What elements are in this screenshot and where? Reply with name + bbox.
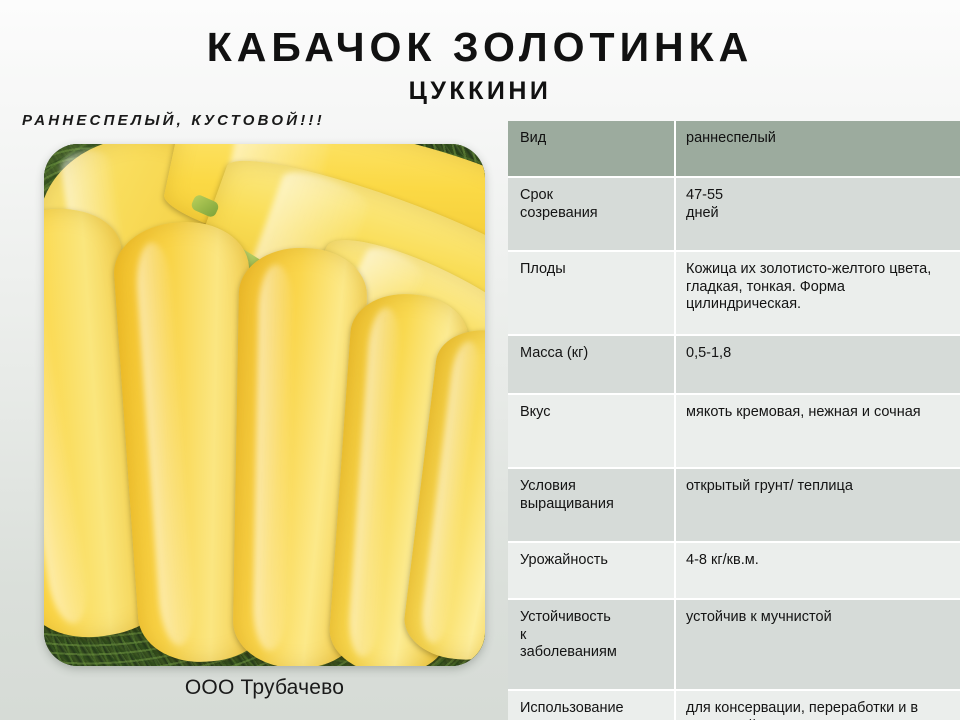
row-key-label: Использование [520,700,624,716]
row-value-label: устойчив к мучнистой [686,609,832,625]
table-cell-key: Вкус [508,394,675,468]
table-cell-key: Использование [508,690,675,720]
row-value-label: 0,5-1,8 [686,345,731,361]
table-cell-value: устойчив к мучнистой [675,599,960,690]
row-value-label: Кожица их золотисто-желтого цвета, гладк… [686,261,931,312]
table-row: Устойчивость к заболеваниям устойчив к м… [508,599,960,690]
table-cell-key: Устойчивость к заболеваниям [508,599,675,690]
row-value-label: открытый грунт/ теплица [686,478,853,494]
row-key-label: Срок созревания [520,187,598,221]
table-cell-value: мякоть кремовая, нежная и сочная [675,394,960,468]
table-cell-value: 47-55 дней [675,177,960,251]
table-row: Вкус мякоть кремовая, нежная и сочная [508,394,960,468]
table-cell-key: Срок созревания [508,177,675,251]
photo-caption: ООО Трубачево [44,676,485,700]
row-key-label: Вид [520,130,546,146]
row-value-label: мякоть кремовая, нежная и сочная [686,404,921,420]
row-key-label: Устойчивость к заболеваниям [520,609,617,660]
row-key-label: Масса (кг) [520,345,588,361]
row-value-label: раннеспелый [686,130,776,146]
specification-table: Вид раннеспелый Срок созревания 47-55 дн… [508,121,960,720]
table-row: Масса (кг) 0,5-1,8 [508,335,960,394]
tagline-text: РАННЕСПЕЛЫЙ, КУСТОВОЙ!!! [22,112,325,129]
table-row: Срок созревания 47-55 дней [508,177,960,251]
page-subtitle: ЦУККИНИ [0,78,960,106]
table-cell-value: раннеспелый [675,121,960,177]
row-value-label: для консервации, переработки и в домашне… [686,700,918,720]
table-cell-key: Вид [508,121,675,177]
table-row: Плоды Кожица их золотисто-желтого цвета,… [508,251,960,335]
table-row: Урожайность 4-8 кг/кв.м. [508,542,960,599]
table-cell-key: Плоды [508,251,675,335]
table-cell-key: Условия выращивания [508,468,675,542]
row-value-label: 47-55 дней [686,187,723,221]
zucchini-photo [44,144,485,666]
table-cell-value: открытый грунт/ теплица [675,468,960,542]
row-key-label: Урожайность [520,552,608,568]
table-row: Условия выращивания открытый грунт/ тепл… [508,468,960,542]
table-cell-value: Кожица их золотисто-желтого цвета, гладк… [675,251,960,335]
table-cell-key: Урожайность [508,542,675,599]
row-key-label: Условия выращивания [520,478,614,512]
page-title: КАБАЧОК ЗОЛОТИНКА [0,25,960,70]
table-cell-value: 0,5-1,8 [675,335,960,394]
row-value-label: 4-8 кг/кв.м. [686,552,759,568]
table-row: Использование для консервации, переработ… [508,690,960,720]
row-key-label: Плоды [520,261,566,277]
table-cell-value: 4-8 кг/кв.м. [675,542,960,599]
slide-root: КАБАЧОК ЗОЛОТИНКА ЦУККИНИ РАННЕСПЕЛЫЙ, К… [0,0,960,720]
table-cell-key: Масса (кг) [508,335,675,394]
table-cell-value: для консервации, переработки и в домашне… [675,690,960,720]
photo-background [44,144,485,666]
table-row: Вид раннеспелый [508,121,960,177]
row-key-label: Вкус [520,404,551,420]
